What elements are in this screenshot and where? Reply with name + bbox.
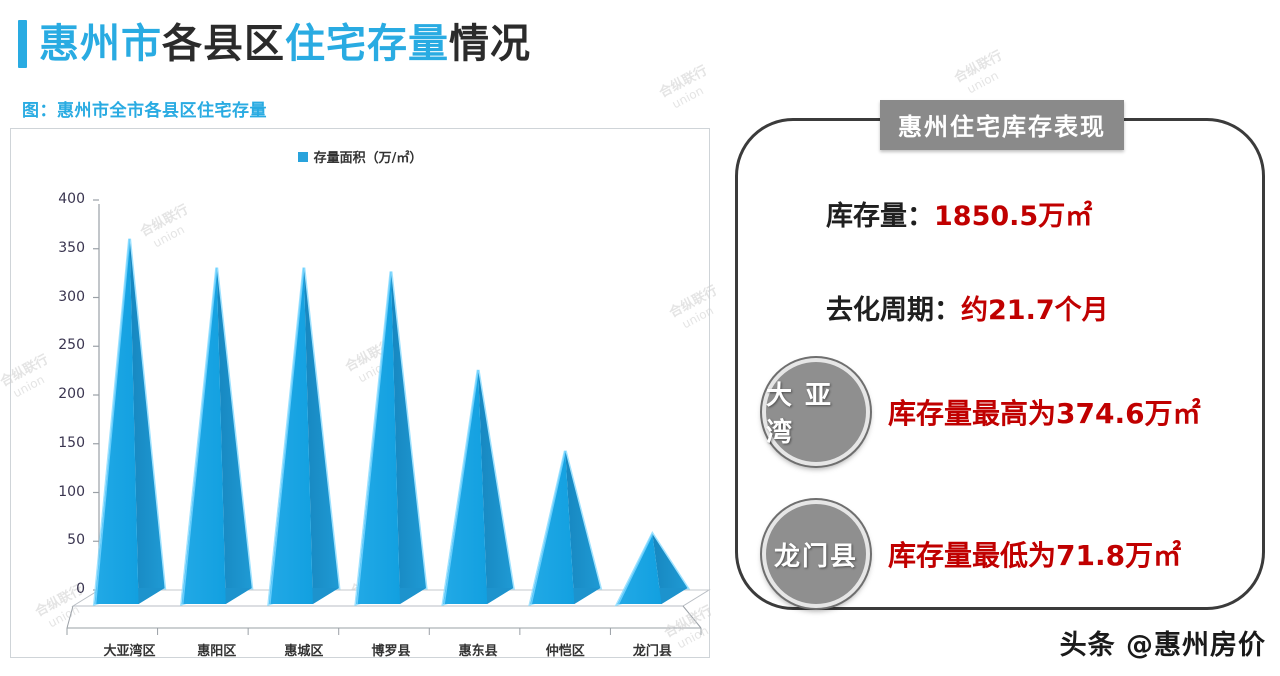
x-axis-tick-label: 大亚湾区 [85,640,175,659]
y-axis-tick-label: 300 [45,289,85,305]
title-segment-1: 惠州市 [39,21,162,67]
page-root: 惠州市各县区住宅存量情况 图：惠州市全市各县区住宅存量 存量面积（万/㎡） 合纵… [0,0,1280,676]
x-axis-tick-label: 惠东县 [433,640,523,659]
stat-inventory-value: 1850.5万㎡ [934,201,1092,232]
y-axis-tick-label: 100 [45,484,85,500]
x-axis-tick-label: 龙门县 [607,640,697,659]
x-axis-tick-label: 惠阳区 [172,640,262,659]
stat-destocking-label: 去化周期： [826,295,961,326]
badge-lowest-circle: 龙门县 [762,500,870,608]
y-axis-tick-label: 0 [45,581,85,597]
watermark: 合纵联行union [950,45,1012,99]
badge-highest-text: 库存量最高为374.6万㎡ [888,392,1201,432]
bar-chart-plot [11,129,711,659]
y-axis-tick-label: 200 [45,386,85,402]
title-segment-4: 情况 [449,21,531,67]
badge-highest-circle: 大 亚 湾 [762,358,870,466]
summary-panel-header: 惠州住宅库存表现 [880,100,1124,150]
stat-destocking-value: 约21.7个月 [961,295,1109,326]
main-title-text: 惠州市各县区住宅存量情况 [39,20,531,68]
y-axis-tick-label: 150 [45,435,85,451]
stat-inventory-label: 库存量： [826,201,934,232]
page-title: 惠州市各县区住宅存量情况 [18,20,531,68]
y-axis-tick-label: 50 [45,532,85,548]
title-accent-bar [18,20,27,68]
x-axis-tick-label: 博罗县 [346,640,436,659]
y-axis-tick-label: 250 [45,337,85,353]
footer-logo: 头条 @惠州房价 [1060,623,1266,662]
x-axis-tick-label: 惠城区 [259,640,349,659]
y-axis-tick-label: 350 [45,240,85,256]
title-segment-2: 各县区 [162,21,285,67]
chart-subtitle: 图：惠州市全市各县区住宅存量 [22,96,267,121]
title-segment-3: 住宅存量 [285,21,449,67]
badge-lowest: 龙门县 库存量最低为71.8万㎡ [762,500,1181,608]
stat-inventory: 库存量：1850.5万㎡ [826,194,1092,233]
watermark: 合纵联行union [655,60,717,114]
y-axis-tick-label: 400 [45,191,85,207]
badge-lowest-text: 库存量最低为71.8万㎡ [888,534,1181,574]
x-axis-tick-label: 仲恺区 [520,640,610,659]
chart-panel: 存量面积（万/㎡） 合纵联行union 合纵联行union 合纵联行union … [10,128,710,658]
badge-highest: 大 亚 湾 库存量最高为374.6万㎡ [762,358,1201,466]
stat-destocking-cycle: 去化周期：约21.7个月 [826,288,1109,327]
